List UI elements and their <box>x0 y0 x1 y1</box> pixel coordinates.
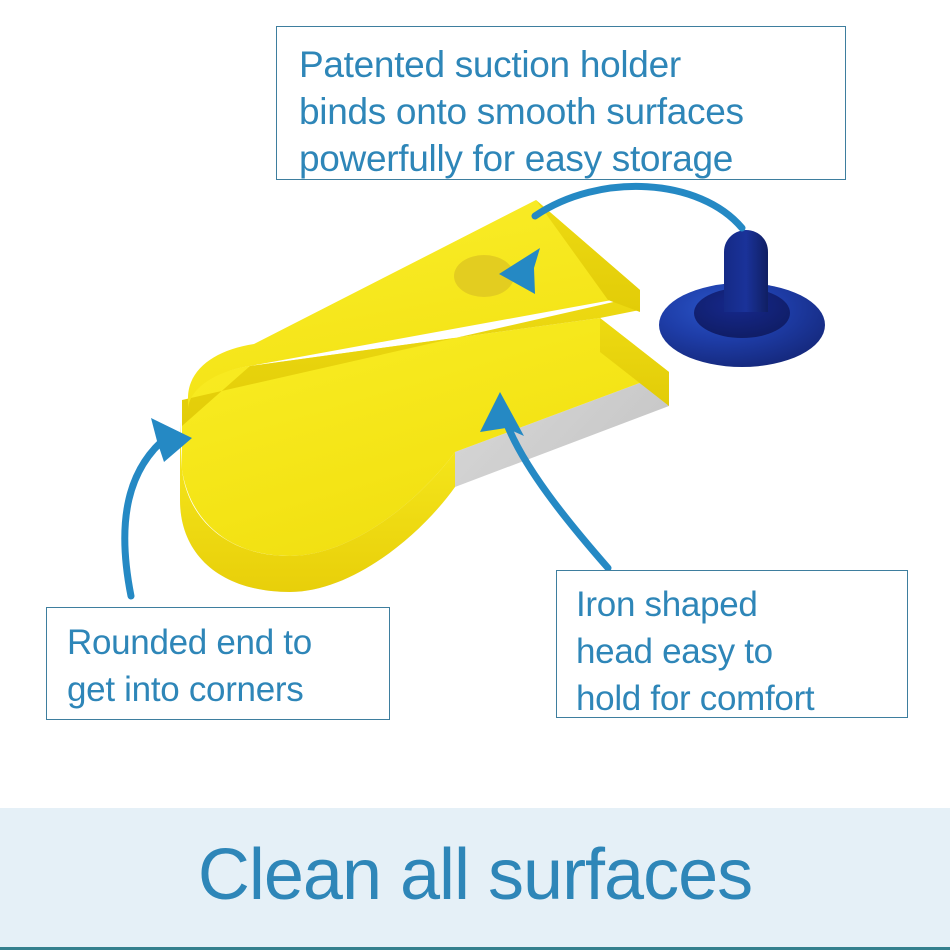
callout-rounded-end-text: Rounded end to get into corners <box>67 619 389 713</box>
callout-iron-head: Iron shaped head easy to hold for comfor… <box>556 570 908 718</box>
suction-cup-holder <box>659 230 825 367</box>
bottom-banner: Clean all surfaces <box>0 808 950 950</box>
callout-rounded-end: Rounded end to get into corners <box>46 607 390 720</box>
callout-suction-holder-text: Patented suction holder binds onto smoot… <box>299 41 845 182</box>
callout-iron-head-text: Iron shaped head easy to hold for comfor… <box>576 581 907 722</box>
arrow-to-suction-hole-line <box>535 186 742 228</box>
infographic-canvas: Patented suction holder binds onto smoot… <box>0 0 950 950</box>
callout-suction-holder: Patented suction holder binds onto smoot… <box>276 26 846 180</box>
arrow-to-rounded-end-line <box>125 436 168 596</box>
banner-title: Clean all surfaces <box>198 839 752 917</box>
